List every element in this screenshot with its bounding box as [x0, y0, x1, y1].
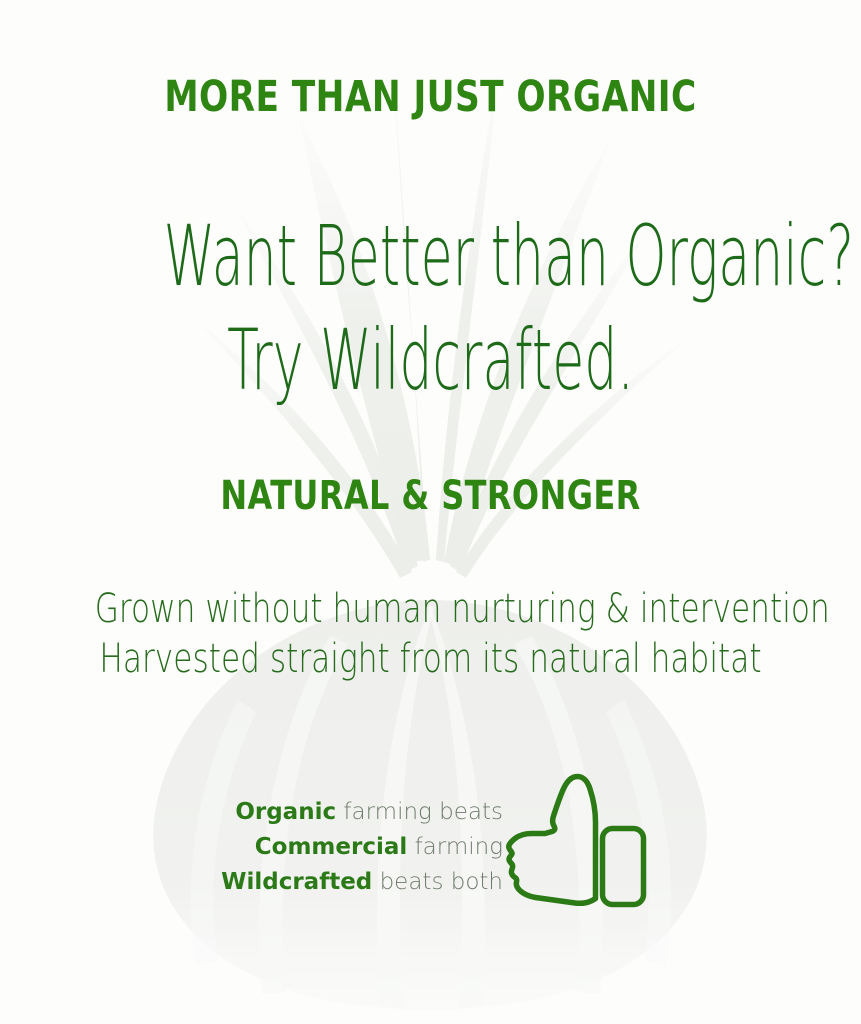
- body-line-1: Grown without human nurturing & interven…: [95, 589, 767, 629]
- comparison-line: Commercial farming: [0, 830, 503, 865]
- comparison-keyword: Wildcrafted: [221, 869, 372, 895]
- comparison-rest: beats both: [372, 869, 503, 895]
- comparison-line: Wildcrafted beats both: [0, 865, 503, 900]
- poster-content: MORE THAN JUST ORGANIC Want Better than …: [0, 0, 861, 1024]
- comparison-line: Organic farming beats: [0, 795, 503, 830]
- comparison-rest: farming beats: [336, 799, 503, 825]
- section-heading: NATURAL & STRONGER: [86, 476, 775, 516]
- eyebrow-heading: MORE THAN JUST ORGANIC: [86, 76, 775, 119]
- headline-line-2: Try Wildcrafted.: [164, 318, 698, 402]
- thumbs-up-icon: [500, 770, 650, 910]
- comparison-rest: farming: [407, 834, 503, 860]
- body-line-2: Harvested straight from its natural habi…: [95, 639, 767, 679]
- poster-root: MORE THAN JUST ORGANIC Want Better than …: [0, 0, 861, 1024]
- comparison-keyword: Organic: [235, 799, 336, 825]
- headline-line-1: Want Better than Organic?: [164, 214, 698, 298]
- comparison-keyword: Commercial: [255, 834, 407, 860]
- comparison-block: Organic farming beats Commercial farming…: [0, 795, 503, 900]
